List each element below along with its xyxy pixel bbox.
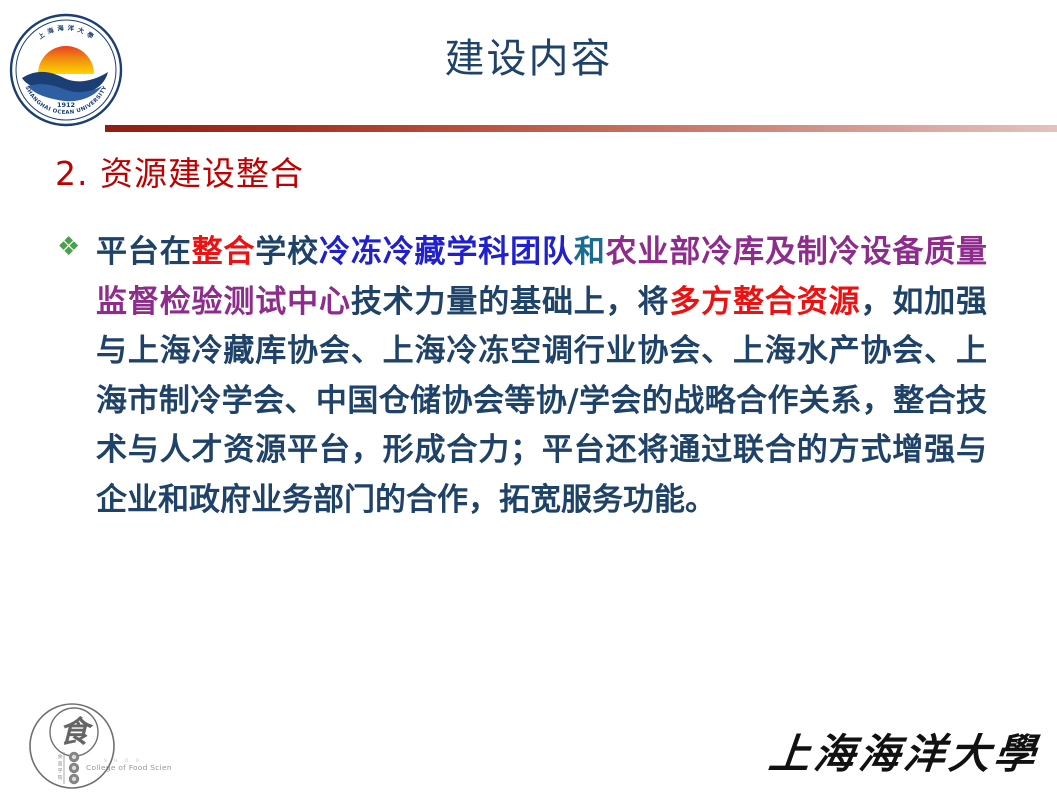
svg-text:College of Food Science: College of Food Science bbox=[86, 763, 172, 772]
body-paragraph: 平台在整合学校冷冻冷藏学科团队和农业部冷库及制冷设备质量监督检验测试中心技术力量… bbox=[96, 228, 987, 525]
title-divider bbox=[105, 125, 1057, 132]
text-run: 平台在 bbox=[96, 234, 192, 270]
text-run: 学校 bbox=[255, 234, 319, 270]
text-run: 整合 bbox=[192, 234, 256, 270]
section-heading: 2. 资源建设整合 bbox=[55, 152, 304, 196]
svg-text:食: 食 bbox=[59, 715, 94, 750]
university-wordmark: 上海海洋大學 bbox=[766, 730, 1041, 778]
svg-text:食: 食 bbox=[58, 753, 63, 760]
page-title: 建设内容 bbox=[0, 32, 1057, 86]
svg-text:院: 院 bbox=[58, 774, 63, 781]
college-of-food-science-logo: 食 食 品 学 院 College of Food Science S H O … bbox=[22, 702, 172, 790]
text-run: 冷冻冷藏学科团队 bbox=[319, 234, 574, 270]
svg-text:1912: 1912 bbox=[57, 101, 75, 109]
slide-canvas: 上 海 海 洋 大 學 SHANGHAI OCEAN UNIVERSITY 19… bbox=[0, 0, 1057, 794]
text-run: 技术力量的基础上，将 bbox=[351, 284, 670, 320]
text-run: 和 bbox=[574, 234, 606, 270]
bullet-list-item: ❖ 平台在整合学校冷冻冷藏学科团队和农业部冷库及制冷设备质量监督检验测试中心技术… bbox=[57, 228, 987, 525]
body-content: ❖ 平台在整合学校冷冻冷藏学科团队和农业部冷库及制冷设备质量监督检验测试中心技术… bbox=[57, 228, 987, 525]
svg-text:S H O U: S H O U bbox=[104, 758, 142, 764]
svg-text:品: 品 bbox=[58, 761, 63, 767]
diamond-bullet-icon: ❖ bbox=[57, 232, 87, 262]
text-run: 多方整合资源 bbox=[669, 284, 860, 320]
svg-text:学: 学 bbox=[58, 767, 63, 774]
